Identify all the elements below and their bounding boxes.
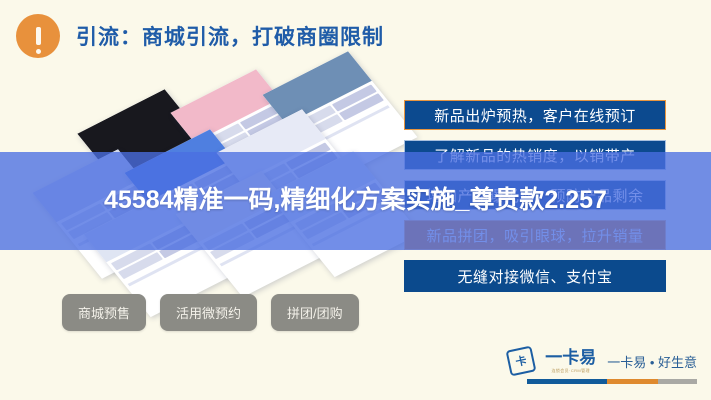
pill-mall-presale[interactable]: 商城预售 [62,294,146,331]
page-title: 引流：商城引流，打破商圈限制 [76,21,384,51]
header: 引流：商城引流，打破商圈限制 [16,14,384,58]
slide-canvas: 引流：商城引流，打破商圈限制 新品出炉预热，客户在线预订 了解新品的热销度，以销… [0,0,711,400]
app-mockup-collage [52,78,382,283]
pill-micro-booking[interactable]: 活用微预约 [160,294,257,331]
callout-box-3: 增加产品曝光率，预防产品剩余 [404,180,666,210]
callout-box-2: 了解新品的热销度，以销带产 [404,140,666,170]
brand-logo-text: 一卡易 [545,349,596,366]
brand-logo-icon: 卡 [506,346,537,377]
brand-color-bar [527,379,697,384]
callout-list: 新品出炉预热，客户在线预订 了解新品的热销度，以销带产 增加产品曝光率，预防产品… [404,100,666,302]
feature-pill-group: 商城预售 活用微预约 拼团/团购 [62,294,359,331]
brand-block: 卡 一卡易 连锁会员·CRM管理 一卡易 • 好生意 [508,348,697,384]
callout-box-4: 新品拼团，吸引眼球，拉升销量 [404,220,666,250]
callout-box-1: 新品出炉预热，客户在线预订 [404,100,666,130]
callout-box-5: 无缝对接微信、支付宝 [404,260,666,292]
brand-logo-subtext: 连锁会员·CRM管理 [551,368,589,374]
exclamation-circle-icon [16,14,60,58]
pill-group-buy[interactable]: 拼团/团购 [271,294,359,331]
brand-tagline: 一卡易 • 好生意 [607,352,697,371]
